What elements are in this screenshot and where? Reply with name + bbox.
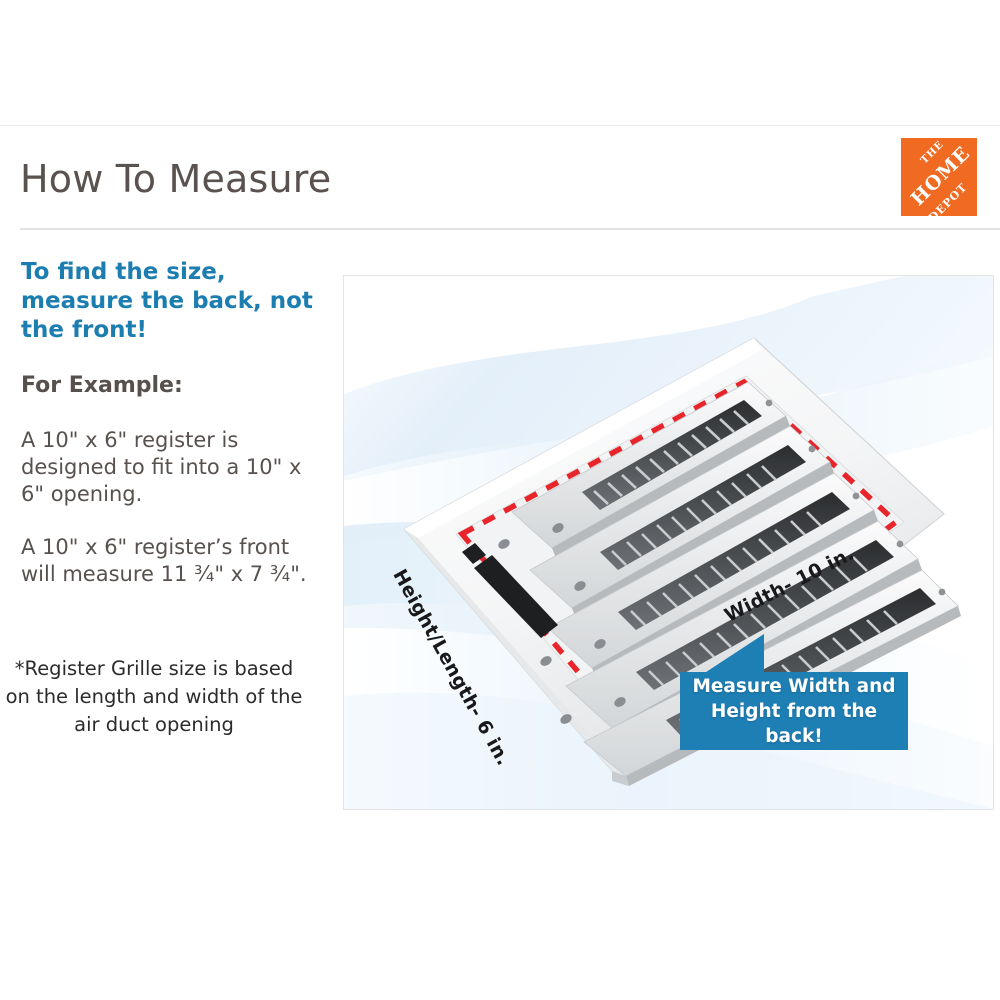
- callout-bubble: Measure Width and Height from the back!: [680, 672, 908, 750]
- page-title: How To Measure: [20, 157, 331, 201]
- callout-tail: [700, 634, 764, 676]
- footnote-text: *Register Grille size is based on the le…: [4, 655, 304, 739]
- page-root: How To Measure THE HOME DEPOT To find th…: [0, 0, 1000, 1000]
- callout-line-1: Measure Width and: [692, 674, 895, 699]
- title-divider: [20, 228, 1000, 230]
- callout-text: Measure Width and Height from the back!: [680, 672, 908, 750]
- example-paragraph-2: A 10" x 6" register’s front will measure…: [21, 534, 321, 588]
- example-paragraph-1: A 10" x 6" register is designed to fit i…: [21, 427, 321, 508]
- home-depot-logo: THE HOME DEPOT: [901, 138, 977, 216]
- callout-line-2: Height from the back!: [680, 699, 908, 749]
- lead-statement: To find the size, measure the back, not …: [21, 258, 331, 345]
- top-divider: [0, 125, 1000, 126]
- logo-inner: THE HOME DEPOT: [901, 138, 977, 216]
- example-heading: For Example:: [21, 373, 183, 398]
